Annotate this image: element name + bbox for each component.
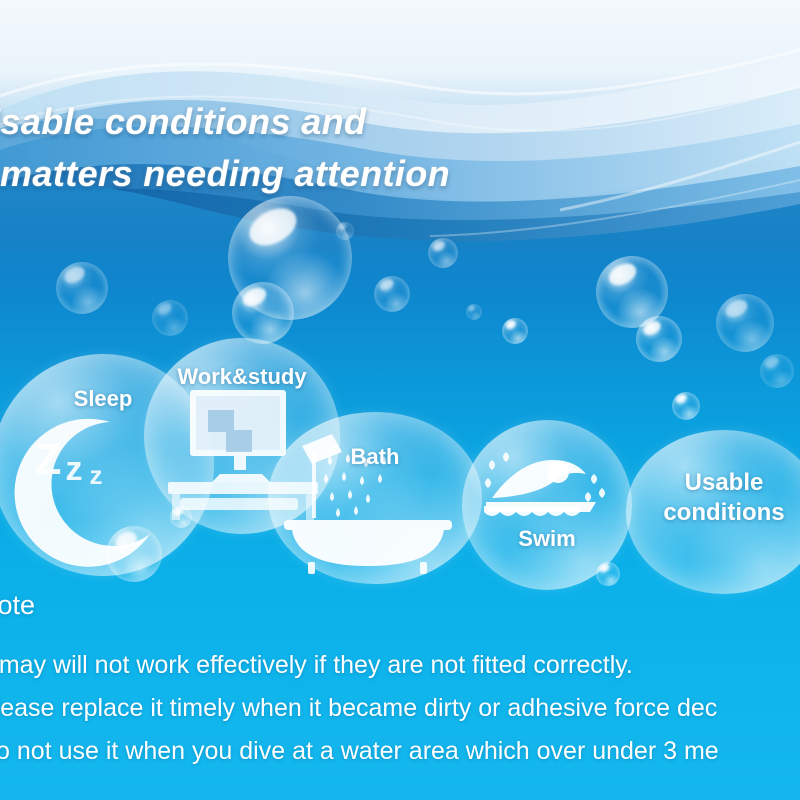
note-item: Do not use it when you dive at a water a… <box>0 730 800 773</box>
title-line-1: Usable conditions and <box>0 96 694 148</box>
decorative-bubble <box>232 282 294 344</box>
decorative-bubble <box>672 392 700 420</box>
category-label-bath: Bath <box>268 444 482 470</box>
decorative-bubble <box>152 300 188 336</box>
category-label-usable-line2: conditions <box>626 500 800 526</box>
bathtub-shower-icon <box>268 412 482 584</box>
category-label-swim: Swim <box>462 526 632 552</box>
category-label-work-study: Work&study <box>144 364 340 390</box>
decorative-bubble <box>760 354 794 388</box>
notes-section: Note It may will not work effectively if… <box>0 588 800 773</box>
notes-heading: Note <box>0 588 800 622</box>
decorative-bubble <box>466 304 482 320</box>
category-label-usable-line1: Usable <box>626 470 800 496</box>
decorative-bubble <box>596 256 668 328</box>
note-item: Please replace it timely when it became … <box>0 687 800 730</box>
decorative-bubble <box>56 262 108 314</box>
title-line-2: matters needing attention <box>0 148 694 200</box>
swimmer-freestyle-icon <box>462 420 632 590</box>
category-bubble-usable-conditions[interactable]: Usable conditions <box>626 430 800 594</box>
notes-list: It may will not work effectively if they… <box>0 644 800 773</box>
poster-title: Usable conditions and matters needing at… <box>0 96 694 200</box>
decorative-bubble <box>636 316 682 362</box>
note-item: It may will not work effectively if they… <box>0 644 800 687</box>
decorative-bubble <box>374 276 410 312</box>
category-bubble-swim[interactable]: Swim <box>462 420 632 590</box>
category-bubble-bath[interactable]: Bath <box>268 412 482 584</box>
svg-text:z: z <box>90 460 103 490</box>
decorative-bubble <box>502 318 528 344</box>
decorative-bubble <box>716 294 774 352</box>
svg-text:Z: Z <box>35 435 62 484</box>
poster-canvas: Usable conditions and matters needing at… <box>0 0 800 800</box>
svg-text:z: z <box>66 450 83 488</box>
